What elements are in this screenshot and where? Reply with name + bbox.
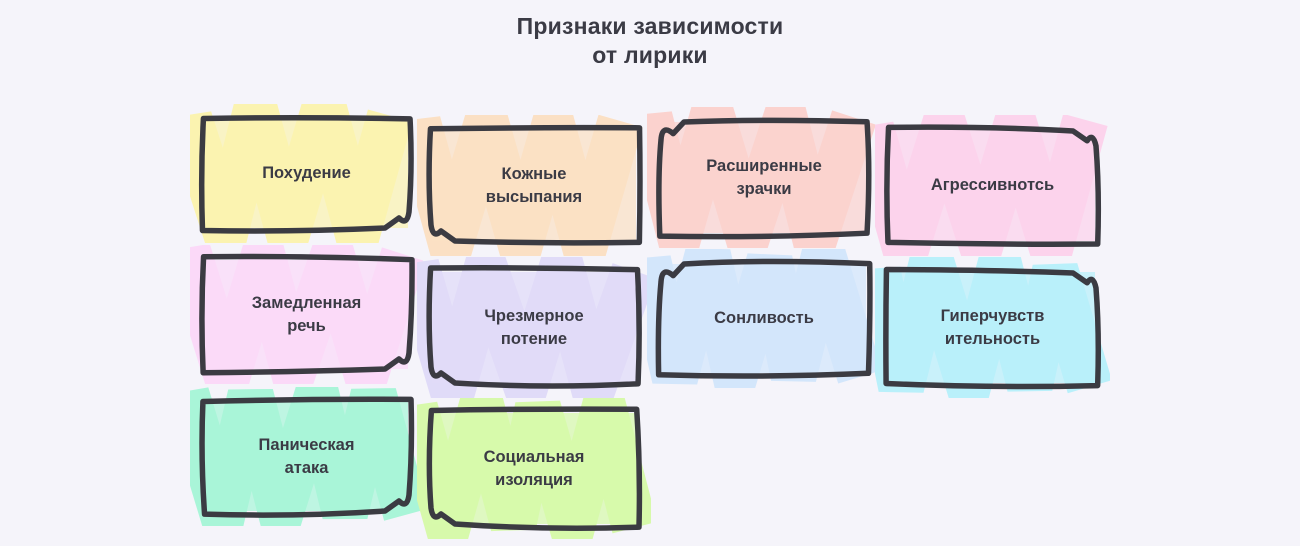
card-shape-panicheskaya-ataka	[177, 374, 436, 539]
card-pohudenie[interactable]: Похудение	[203, 117, 410, 230]
card-kozhnye-vysypaniya[interactable]: Кожные высыпания	[430, 128, 638, 243]
card-fill-base	[890, 272, 1095, 383]
card-fill-base	[205, 402, 408, 511]
card-fill-base	[205, 260, 408, 369]
card-panicheskaya-ataka[interactable]: Паническая атака	[203, 400, 410, 513]
card-fill-base	[432, 272, 636, 383]
card-fill-base	[662, 122, 866, 233]
card-chrezmernoe-potenie[interactable]: Чрезмерное потение	[430, 270, 638, 385]
page-title: Признаки зависимости от лирики	[0, 12, 1300, 70]
mindmap-board: Признаки зависимости от лирики Похудение…	[0, 0, 1300, 546]
card-fill-base	[205, 119, 408, 228]
card-fill-base	[890, 130, 1095, 241]
card-shape-socialnaya-izolyaciya	[404, 385, 664, 546]
card-sonlivost[interactable]: Сонливость	[660, 262, 868, 375]
card-zamedlennaya-rech[interactable]: Замедленная речь	[203, 258, 410, 371]
card-fill-base	[432, 413, 636, 524]
card-agressivnotst[interactable]: Агрессивнотсь	[888, 128, 1097, 243]
card-shape-sonlivost	[634, 236, 894, 401]
card-rasshirennye-zrachki[interactable]: Расширенные зрачки	[660, 120, 868, 235]
card-fill-base	[662, 264, 866, 373]
card-fill-base	[432, 130, 636, 241]
card-shape-giperchuvstvitelnost	[862, 244, 1123, 411]
card-shape-zamedlennaya-rech	[177, 232, 436, 397]
card-giperchuvstvitelnost[interactable]: Гиперчувств ительность	[888, 270, 1097, 385]
card-socialnaya-izolyaciya[interactable]: Социальная изоляция	[430, 411, 638, 526]
